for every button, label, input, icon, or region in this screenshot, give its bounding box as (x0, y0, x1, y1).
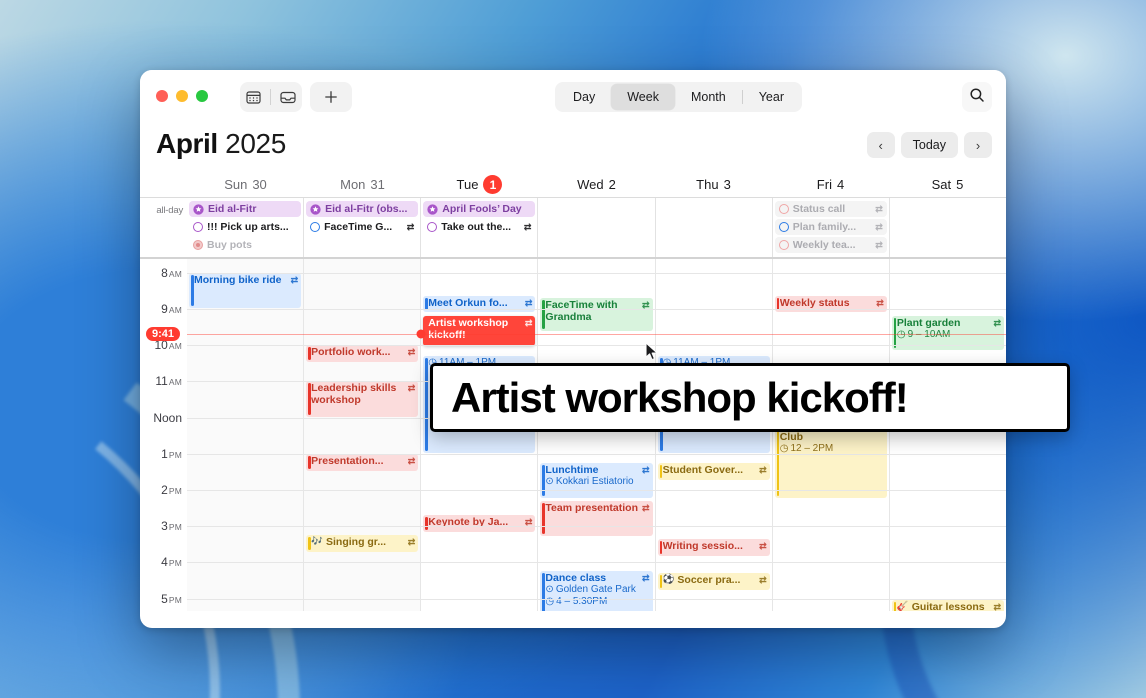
reminder-circle-icon[interactable] (310, 222, 320, 232)
view-segmented-control: Day Week Month Year (555, 82, 802, 112)
event-title: Soccer pra... (677, 574, 756, 586)
event-header: 🎸Guitar lessons with S⇄ (897, 601, 1001, 611)
calendar-event[interactable]: Team presentation⇄ (540, 501, 652, 536)
repeat-icon: ⇄ (759, 574, 767, 586)
calendar-icon[interactable] (243, 86, 265, 108)
star-icon (427, 204, 438, 215)
repeat-icon: ⇄ (408, 382, 416, 394)
event-title: Writing sessio... (663, 540, 757, 552)
hour-gridline (187, 309, 1006, 310)
callout-text: Artist workshop kickoff! (433, 374, 908, 422)
day-column-mon[interactable]: Portfolio work...⇄Leadership skills work… (303, 259, 420, 611)
all-day-event-title: Buy pots (207, 239, 297, 251)
minimize-button[interactable] (176, 90, 188, 102)
event-color-bar (308, 347, 311, 360)
day-header-row: Sun30Mon31Tue1Wed2Thu3Fri4Sat5 (140, 172, 1006, 198)
event-title: Plant garden (897, 317, 991, 329)
star-icon (310, 204, 321, 215)
event-color-bar (191, 275, 194, 306)
window-toolbar: Day Week Month Year (140, 70, 1006, 124)
event-color-bar (425, 358, 428, 451)
event-color-bar (308, 383, 311, 414)
search-icon (969, 87, 985, 108)
zoom-button[interactable] (196, 90, 208, 102)
tab-week[interactable]: Week (611, 84, 675, 110)
event-title: Guitar lessons with S (912, 601, 991, 611)
current-time-badge: 9:41 (146, 327, 180, 341)
all-day-event-title: Plan family... (793, 221, 872, 233)
day-name: Sat (932, 177, 952, 192)
hour-label: Noon (153, 411, 182, 425)
day-number: 2 (609, 177, 616, 192)
hour-gridline (187, 454, 1006, 455)
hour-label: 2PM (161, 483, 182, 497)
hour-label: 11AM (155, 374, 182, 388)
event-title: Dance class (545, 572, 639, 584)
repeat-icon: ⇄ (408, 346, 416, 358)
day-column-thu[interactable]: ◷11AM – 1PMStudent Gover...⇄Writing sess… (655, 259, 772, 611)
calendar-titlebar: April 2025 ‹ Today › (140, 124, 1006, 172)
all-day-event[interactable]: Status call⇄ (775, 201, 887, 217)
all-day-event-title: !!! Pick up arts... (207, 221, 297, 233)
event-color-bar (308, 456, 311, 469)
hour-gridline (187, 562, 1006, 563)
event-header: Artist workshop kickoff!⇄ (428, 317, 532, 341)
all-day-event[interactable]: Eid al-Fitr (189, 201, 301, 217)
event-header: 🎶Singing gr...⇄ (311, 536, 415, 548)
event-header: Writing sessio...⇄ (663, 540, 767, 552)
repeat-icon: ⇄ (993, 317, 1001, 329)
day-number: 4 (837, 177, 844, 192)
event-color-bar (894, 602, 897, 611)
event-header: Meet Orkun fo...⇄ (428, 297, 532, 309)
event-color-bar (542, 503, 545, 534)
toolbar-divider (270, 89, 271, 105)
all-day-event-title: Weekly tea... (793, 239, 872, 251)
all-day-label: all-day (140, 198, 187, 257)
repeat-icon: ⇄ (642, 502, 650, 514)
all-day-event[interactable]: Take out the...⇄ (423, 219, 535, 235)
all-day-event[interactable]: Buy pots (189, 237, 301, 253)
repeat-icon: ⇄ (759, 464, 767, 476)
event-color-bar (425, 298, 428, 309)
day-name: Thu (696, 177, 718, 192)
all-day-event[interactable]: Plan family...⇄ (775, 219, 887, 235)
current-time-line (187, 334, 1006, 335)
reminder-circle-icon[interactable] (427, 222, 437, 232)
calendar-event[interactable]: 🎶Singing gr...⇄ (306, 535, 418, 552)
next-week-button[interactable]: › (964, 132, 992, 158)
all-day-event-title: Eid al-Fitr (obs... (325, 203, 414, 215)
repeat-icon: ⇄ (525, 297, 533, 309)
event-title: Singing gr... (326, 536, 405, 548)
day-header-tue[interactable]: Tue1 (421, 172, 538, 197)
day-column-wed[interactable]: FaceTime with Grandma⇄Lunchtime⇄⊙Kokkari… (537, 259, 654, 611)
event-color-bar (308, 537, 311, 550)
event-location: ⊙Kokkari Estiatorio (545, 476, 649, 488)
event-header: ⚽Soccer pra...⇄ (663, 574, 767, 586)
event-color-bar (425, 517, 428, 530)
all-day-event-title: Take out the... (441, 221, 520, 233)
calendar-event[interactable]: 🎸Guitar lessons with S⇄ (892, 600, 1004, 611)
reminder-circle-icon[interactable] (779, 240, 789, 250)
event-color-bar (777, 298, 780, 309)
calendar-event[interactable]: FaceTime with Grandma⇄ (540, 298, 652, 331)
event-emoji-icon: 🎶 (311, 536, 323, 548)
add-event-button[interactable] (310, 82, 352, 112)
all-day-row: all-day Eid al-Fitr!!! Pick up arts...Bu… (140, 198, 1006, 259)
reminder-circle-icon[interactable] (193, 222, 203, 232)
previous-week-button[interactable]: ‹ (867, 132, 895, 158)
all-day-column-5[interactable]: Status call⇄Plan family...⇄Weekly tea...… (772, 198, 889, 257)
event-title: Lunchtime (545, 464, 639, 476)
day-name: Tue (457, 177, 479, 192)
hour-label: 9AM (161, 302, 182, 316)
hour-label: 4PM (161, 555, 182, 569)
event-title: FaceTime with Grandma (545, 299, 639, 323)
repeat-icon: ⇄ (291, 274, 299, 286)
day-header-mon[interactable]: Mon31 (304, 172, 421, 197)
event-header: Dance class⇄ (545, 572, 649, 584)
hour-label: 8AM (161, 266, 182, 280)
repeat-icon: ⇄ (408, 536, 416, 548)
calendar-event[interactable]: Student Gover...⇄ (658, 463, 770, 480)
repeat-icon: ⇄ (408, 455, 416, 467)
hour-label: 1PM (161, 447, 182, 461)
inbox-icon[interactable] (277, 86, 299, 108)
all-day-event[interactable]: !!! Pick up arts... (189, 219, 301, 235)
event-title: Meet Orkun fo... (428, 297, 522, 309)
repeat-icon: ⇄ (875, 204, 883, 215)
calendar-window: Day Week Month Year April 2025 ‹ Today ›… (140, 70, 1006, 628)
calendar-event[interactable]: ⚽Soccer pra...⇄ (658, 573, 770, 590)
calendar-event[interactable]: Morning bike ride⇄ (189, 273, 301, 308)
day-column-fri[interactable]: Weekly status⇄Sign Language Club⇄◷12 – 2… (772, 259, 889, 611)
event-title: Team presentation (545, 502, 639, 514)
repeat-icon: ⇄ (875, 240, 883, 251)
title-month: April (156, 128, 218, 159)
day-name: Fri (817, 177, 832, 192)
event-header: FaceTime with Grandma⇄ (545, 299, 649, 323)
location-icon: ⊙ (545, 476, 553, 488)
event-title: Morning bike ride (194, 274, 288, 286)
time-grid[interactable]: Morning bike ride⇄Portfolio work...⇄Lead… (140, 259, 1006, 611)
all-day-event-title: April Fools’ Day (442, 203, 531, 215)
traffic-lights (156, 90, 208, 102)
hour-label: 3PM (161, 519, 182, 533)
all-day-event-title: Status call (793, 203, 872, 215)
repeat-icon: ⇄ (759, 540, 767, 552)
search-button[interactable] (962, 82, 992, 112)
event-header: Presentation...⇄ (311, 455, 415, 467)
day-header-wed[interactable]: Wed2 (538, 172, 655, 197)
event-time: ◷12 – 2PM (780, 443, 884, 455)
event-location: ⊙Golden Gate Park (545, 584, 649, 596)
hour-label: 5PM (161, 592, 182, 606)
calendar-event[interactable]: Presentation...⇄ (306, 454, 418, 471)
tab-month[interactable]: Month (675, 84, 742, 110)
all-day-event[interactable]: Eid al-Fitr (obs... (306, 201, 418, 217)
repeat-icon: ⇄ (642, 572, 650, 584)
all-day-column-3[interactable] (537, 198, 654, 257)
all-day-event-title: FaceTime G... (324, 221, 403, 233)
star-icon (193, 204, 204, 215)
plus-icon (320, 86, 342, 108)
all-day-column-2[interactable]: April Fools’ DayTake out the...⇄ (420, 198, 537, 257)
repeat-icon: ⇄ (524, 222, 532, 233)
event-title-callout: Artist workshop kickoff! (430, 363, 1070, 432)
hour-gutter: 8AM9AM10AM11AMNoon1PM2PM3PM4PM5PM9:41 (140, 259, 187, 611)
day-header-sat[interactable]: Sat5 (889, 172, 1006, 197)
day-header-thu[interactable]: Thu3 (655, 172, 772, 197)
all-day-column-1[interactable]: Eid al-Fitr (obs...FaceTime G...⇄ (303, 198, 420, 257)
day-header-sun[interactable]: Sun30 (187, 172, 304, 197)
calendar-event[interactable]: Portfolio work...⇄ (306, 345, 418, 362)
event-header: Team presentation⇄ (545, 502, 649, 514)
close-button[interactable] (156, 90, 168, 102)
event-color-bar (660, 465, 663, 478)
event-color-bar (542, 300, 545, 329)
event-title: Leadership skills workshop (311, 382, 405, 406)
event-title: Portfolio work... (311, 346, 405, 358)
hour-gridline (187, 345, 1006, 346)
repeat-icon: ⇄ (875, 222, 883, 233)
reminder-circle-icon[interactable] (779, 222, 789, 232)
hour-gridline (187, 599, 1006, 600)
repeat-icon: ⇄ (407, 222, 415, 233)
repeat-icon: ⇄ (993, 601, 1001, 611)
calendar-event[interactable]: Dance class⇄⊙Golden Gate Park◷4 – 5:30PM (540, 571, 652, 611)
calendar-event[interactable]: Lunchtime⇄⊙Kokkari Estiatorio (540, 463, 652, 498)
event-header: Plant garden⇄ (897, 317, 1001, 329)
day-name: Sun (224, 177, 247, 192)
all-day-event[interactable]: FaceTime G...⇄ (306, 219, 418, 235)
event-color-bar (660, 541, 663, 554)
completed-circle-icon[interactable] (193, 240, 203, 250)
mouse-cursor (645, 342, 659, 362)
event-title: Weekly status (780, 297, 874, 309)
hour-gridline (187, 490, 1006, 491)
all-day-event[interactable]: Weekly tea...⇄ (775, 237, 887, 253)
event-emoji-icon: ⚽ (663, 574, 675, 586)
calendar-event[interactable]: Keynote by Ja...⇄ (423, 515, 535, 532)
hour-gridline (187, 526, 1006, 527)
all-day-event[interactable]: April Fools’ Day (423, 201, 535, 217)
calendar-event[interactable]: Leadership skills workshop⇄ (306, 381, 418, 416)
clock-icon: ◷ (780, 443, 789, 455)
page-title: April 2025 (156, 128, 286, 160)
all-day-column-0[interactable]: Eid al-Fitr!!! Pick up arts...Buy pots (187, 198, 303, 257)
day-column-tue[interactable]: Meet Orkun fo...⇄Artist workshop kickoff… (420, 259, 537, 611)
hour-gridline (187, 273, 1006, 274)
tab-day[interactable]: Day (557, 84, 611, 110)
current-time-dot (417, 330, 426, 339)
repeat-icon: ⇄ (525, 317, 533, 329)
reminder-circle-icon[interactable] (779, 204, 789, 214)
calendar-event[interactable]: Artist workshop kickoff!⇄ (423, 316, 535, 346)
event-color-bar (660, 575, 663, 588)
today-badge: 1 (483, 175, 502, 194)
event-header: Weekly status⇄ (780, 297, 884, 309)
today-button[interactable]: Today (901, 132, 958, 158)
repeat-icon: ⇄ (642, 464, 650, 476)
day-column-sun[interactable]: Morning bike ride⇄ (187, 259, 303, 611)
toolbar-view-toggles (240, 82, 302, 112)
day-name: Wed (577, 177, 604, 192)
event-header: Lunchtime⇄ (545, 464, 649, 476)
calendar-event[interactable]: Writing sessio...⇄ (658, 539, 770, 556)
repeat-icon: ⇄ (876, 297, 884, 309)
event-header: Morning bike ride⇄ (194, 274, 298, 286)
event-header: Leadership skills workshop⇄ (311, 382, 415, 406)
all-day-event-title: Eid al-Fitr (208, 203, 297, 215)
tab-year[interactable]: Year (743, 84, 800, 110)
event-header: Student Gover...⇄ (663, 464, 767, 476)
location-icon: ⊙ (545, 584, 553, 596)
day-column-sat[interactable]: Plant garden⇄◷9 – 10AM🎸Guitar lessons wi… (889, 259, 1006, 611)
title-year: 2025 (225, 128, 286, 159)
day-number: 3 (724, 177, 731, 192)
event-title: Artist workshop kickoff! (428, 317, 522, 341)
event-header: Portfolio work...⇄ (311, 346, 415, 358)
event-color-bar (425, 318, 428, 344)
event-title: Student Gover... (663, 464, 757, 476)
day-name: Mon (340, 177, 365, 192)
event-emoji-icon: 🎸 (897, 601, 909, 611)
all-day-column-4[interactable] (655, 198, 772, 257)
date-navigation: ‹ Today › (867, 132, 992, 158)
all-day-column-6[interactable] (889, 198, 1006, 257)
day-number: 5 (956, 177, 963, 192)
day-header-fri[interactable]: Fri4 (772, 172, 889, 197)
day-number: 31 (370, 177, 384, 192)
event-title: Presentation... (311, 455, 405, 467)
day-number: 30 (252, 177, 266, 192)
